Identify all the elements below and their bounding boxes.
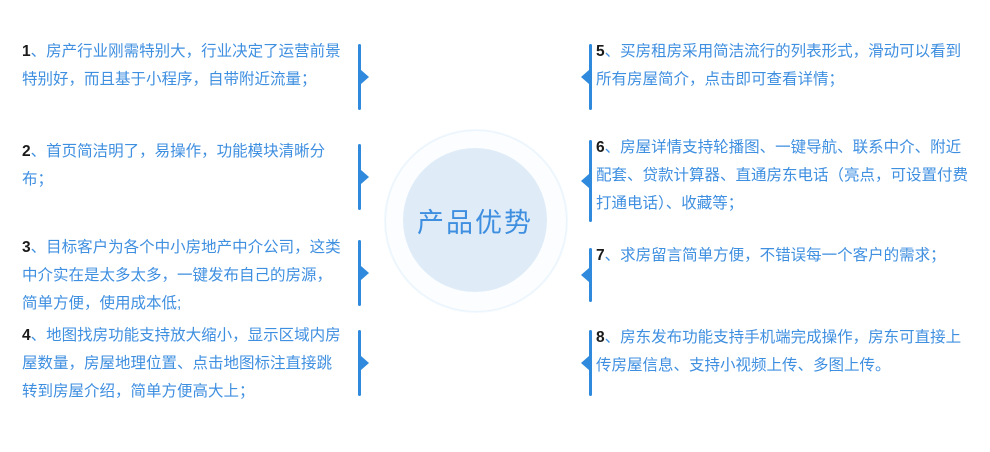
advantage-item-8-body: 房东发布功能支持手机端完成操作，房东可直接上传房屋信息、支持小视频上传、多图上传… <box>596 329 961 374</box>
advantage-item-1-body: 房产行业刚需特别大，行业决定了运营前景特别好，而且基于小程序，自带附近流量； <box>22 43 341 88</box>
advantage-item-7-separator: 、 <box>605 247 621 264</box>
advantage-item-8-number: 8 <box>596 329 605 346</box>
advantage-item-7-marker <box>578 248 592 302</box>
left-arrow-icon <box>581 174 589 188</box>
center-title: 产品优势 <box>385 130 565 310</box>
marker-bar <box>589 248 592 302</box>
left-arrow-icon <box>581 356 589 370</box>
advantage-item-7-body: 求房留言简单方便，不错误每一个客户的需求； <box>620 247 946 264</box>
advantage-item-6-text: 6、房屋详情支持轮播图、一键导航、联系中介、附近配套、贷款计算器、直通房东电话（… <box>596 134 974 218</box>
advantage-item-5-separator: 、 <box>605 43 621 60</box>
advantage-item-2-number: 2 <box>22 143 31 160</box>
advantage-item-3-separator: 、 <box>31 239 47 256</box>
advantage-item-5-marker <box>578 44 592 110</box>
right-arrow-icon <box>361 170 369 184</box>
advantage-item-4-separator: 、 <box>31 327 47 344</box>
advantage-item-3-number: 3 <box>22 239 31 256</box>
advantage-item-6-separator: 、 <box>605 139 621 156</box>
advantage-item-4-number: 4 <box>22 327 31 344</box>
right-arrow-icon <box>361 266 369 280</box>
advantage-item-2-text: 2、首页简洁明了，易操作，功能模块清晰分布； <box>22 138 344 194</box>
left-arrow-icon <box>581 268 589 282</box>
advantage-item-1-separator: 、 <box>31 43 47 60</box>
advantage-item-4-text: 4、地图找房功能支持放大缩小，显示区域内房屋数量，房屋地理位置、点击地图标注直接… <box>22 322 344 406</box>
advantage-item-5-text: 5、买房租房采用简洁流行的列表形式，滑动可以看到所有房屋简介，点击即可查看详情； <box>596 38 974 94</box>
advantage-item-2-body: 首页简洁明了，易操作，功能模块清晰分布； <box>22 143 325 188</box>
advantage-item-3-marker <box>358 240 372 306</box>
product-advantages-infographic: 产品优势 1、房产行业刚需特别大，行业决定了运营前景特别好，而且基于小程序，自带… <box>0 0 990 452</box>
right-arrow-icon <box>361 356 369 370</box>
advantage-item-3: 3、目标客户为各个中小房地产中介公司，这类中介实在是太多太多，一键发布自己的房源… <box>22 234 344 318</box>
advantage-item-3-text: 3、目标客户为各个中小房地产中介公司，这类中介实在是太多太多，一键发布自己的房源… <box>22 234 344 318</box>
advantage-item-6: 6、房屋详情支持轮播图、一键导航、联系中介、附近配套、贷款计算器、直通房东电话（… <box>596 134 974 218</box>
advantage-item-3-body: 目标客户为各个中小房地产中介公司，这类中介实在是太多太多，一键发布自己的房源，简… <box>22 239 341 312</box>
advantage-item-4: 4、地图找房功能支持放大缩小，显示区域内房屋数量，房屋地理位置、点击地图标注直接… <box>22 322 344 406</box>
advantage-item-6-number: 6 <box>596 139 605 156</box>
marker-bar <box>589 330 592 396</box>
advantage-item-4-body: 地图找房功能支持放大缩小，显示区域内房屋数量，房屋地理位置、点击地图标注直接跳转… <box>22 327 341 400</box>
advantage-item-1: 1、房产行业刚需特别大，行业决定了运营前景特别好，而且基于小程序，自带附近流量； <box>22 38 344 94</box>
advantage-item-7: 7、求房留言简单方便，不错误每一个客户的需求； <box>596 242 974 270</box>
marker-bar <box>589 44 592 110</box>
advantage-item-8-text: 8、房东发布功能支持手机端完成操作，房东可直接上传房屋信息、支持小视频上传、多图… <box>596 324 974 380</box>
advantage-item-8: 8、房东发布功能支持手机端完成操作，房东可直接上传房屋信息、支持小视频上传、多图… <box>596 324 974 380</box>
marker-bar <box>589 140 592 222</box>
advantage-item-8-separator: 、 <box>605 329 621 346</box>
right-arrow-icon <box>361 70 369 84</box>
advantage-item-2-marker <box>358 144 372 210</box>
advantage-item-4-marker <box>358 330 372 396</box>
advantage-item-1-marker <box>358 44 372 110</box>
advantage-item-2: 2、首页简洁明了，易操作，功能模块清晰分布； <box>22 138 344 194</box>
advantage-item-1-text: 1、房产行业刚需特别大，行业决定了运营前景特别好，而且基于小程序，自带附近流量； <box>22 38 344 94</box>
advantage-item-5-number: 5 <box>596 43 605 60</box>
advantage-item-5-body: 买房租房采用简洁流行的列表形式，滑动可以看到所有房屋简介，点击即可查看详情； <box>596 43 961 88</box>
advantage-item-8-marker <box>578 330 592 396</box>
advantage-item-7-text: 7、求房留言简单方便，不错误每一个客户的需求； <box>596 242 974 270</box>
advantage-item-6-body: 房屋详情支持轮播图、一键导航、联系中介、附近配套、贷款计算器、直通房东电话（亮点… <box>596 139 968 212</box>
advantage-item-2-separator: 、 <box>31 143 47 160</box>
advantage-item-5: 5、买房租房采用简洁流行的列表形式，滑动可以看到所有房屋简介，点击即可查看详情； <box>596 38 974 94</box>
advantage-item-6-marker <box>578 140 592 222</box>
advantage-item-7-number: 7 <box>596 247 605 264</box>
left-arrow-icon <box>581 70 589 84</box>
advantage-item-1-number: 1 <box>22 43 31 60</box>
